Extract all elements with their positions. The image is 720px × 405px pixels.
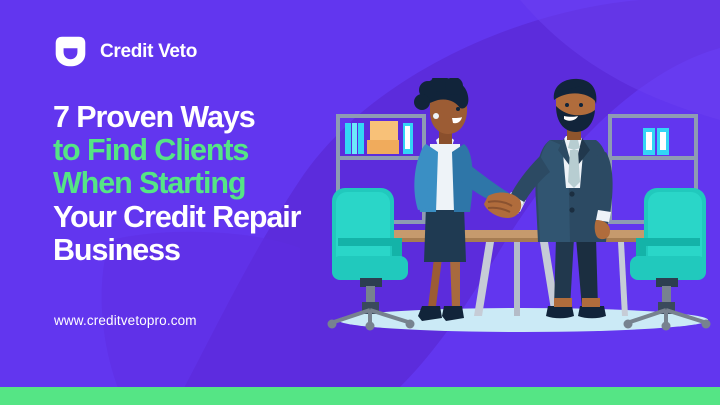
man-shoe	[578, 306, 606, 318]
banner-root: Credit Veto 7 Proven Ways to Find Client…	[0, 0, 720, 405]
headline-line-5: Business	[53, 234, 353, 267]
man-button	[569, 207, 574, 212]
book-page	[646, 132, 652, 150]
man-tie-knot	[568, 140, 580, 150]
brand-logo[interactable]: Credit Veto	[52, 33, 197, 70]
book	[358, 123, 364, 154]
man-leg	[554, 238, 574, 308]
woman-leg	[450, 258, 460, 308]
man-button	[569, 191, 574, 196]
handshake-hands	[484, 193, 521, 218]
book-page	[405, 126, 410, 149]
woman-hair-bun	[414, 94, 430, 110]
smile-cup-logo-icon	[52, 33, 89, 70]
headline-line-3: When Starting	[53, 167, 353, 200]
man-eye	[579, 103, 583, 107]
woman-earring	[433, 113, 439, 119]
right-office-chair	[624, 188, 711, 331]
brand-name: Credit Veto	[100, 42, 197, 61]
book	[352, 123, 357, 154]
book-page	[660, 132, 666, 150]
left-office-chair	[328, 188, 415, 331]
woman-eye	[456, 107, 460, 111]
man-ankle	[582, 298, 600, 307]
illustration-svg	[318, 78, 720, 370]
headline-line-1: 7 Proven Ways	[53, 101, 353, 134]
woman-skirt	[424, 206, 466, 262]
storage-box	[370, 121, 398, 142]
bottom-accent-bar	[0, 387, 720, 405]
business-handshake-illustration	[318, 78, 720, 370]
man-shoe	[546, 306, 574, 318]
book	[345, 123, 351, 154]
man-tie	[568, 150, 580, 188]
headline-line-4: Your Credit Repair	[53, 201, 353, 234]
site-url[interactable]: www.creditvetopro.com	[54, 313, 197, 328]
man-eye	[565, 103, 569, 107]
storage-box	[367, 140, 399, 154]
floor-ellipse	[338, 308, 708, 332]
man-leg	[576, 238, 598, 308]
page-title: 7 Proven Ways to Find Clients When Start…	[53, 101, 353, 267]
man-ankle	[554, 298, 572, 307]
conference-table	[378, 230, 668, 316]
woman-leg	[428, 258, 442, 308]
headline-line-2: to Find Clients	[53, 134, 353, 167]
